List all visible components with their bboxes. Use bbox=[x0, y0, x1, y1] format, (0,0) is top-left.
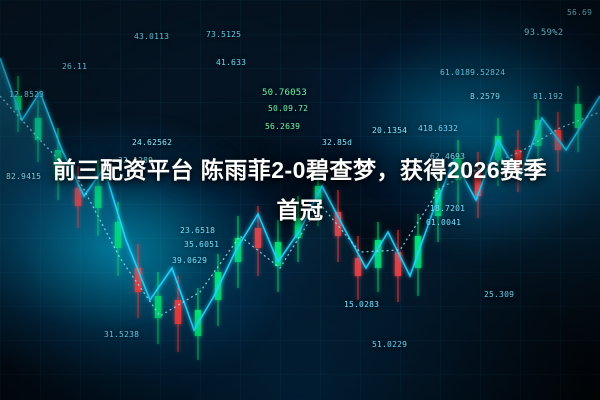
headline-line-2: 首冠 bbox=[12, 190, 588, 230]
candle-body bbox=[575, 104, 581, 128]
news-banner-image: 93.59%256.6961.0189.528248.257981.19250.… bbox=[0, 0, 600, 400]
headline-line-1: 前三配资平台 陈雨菲2-0碧查梦，获得2026赛季 bbox=[53, 157, 547, 183]
headline: 前三配资平台 陈雨菲2-0碧查梦，获得2026赛季 首冠 bbox=[0, 150, 600, 230]
